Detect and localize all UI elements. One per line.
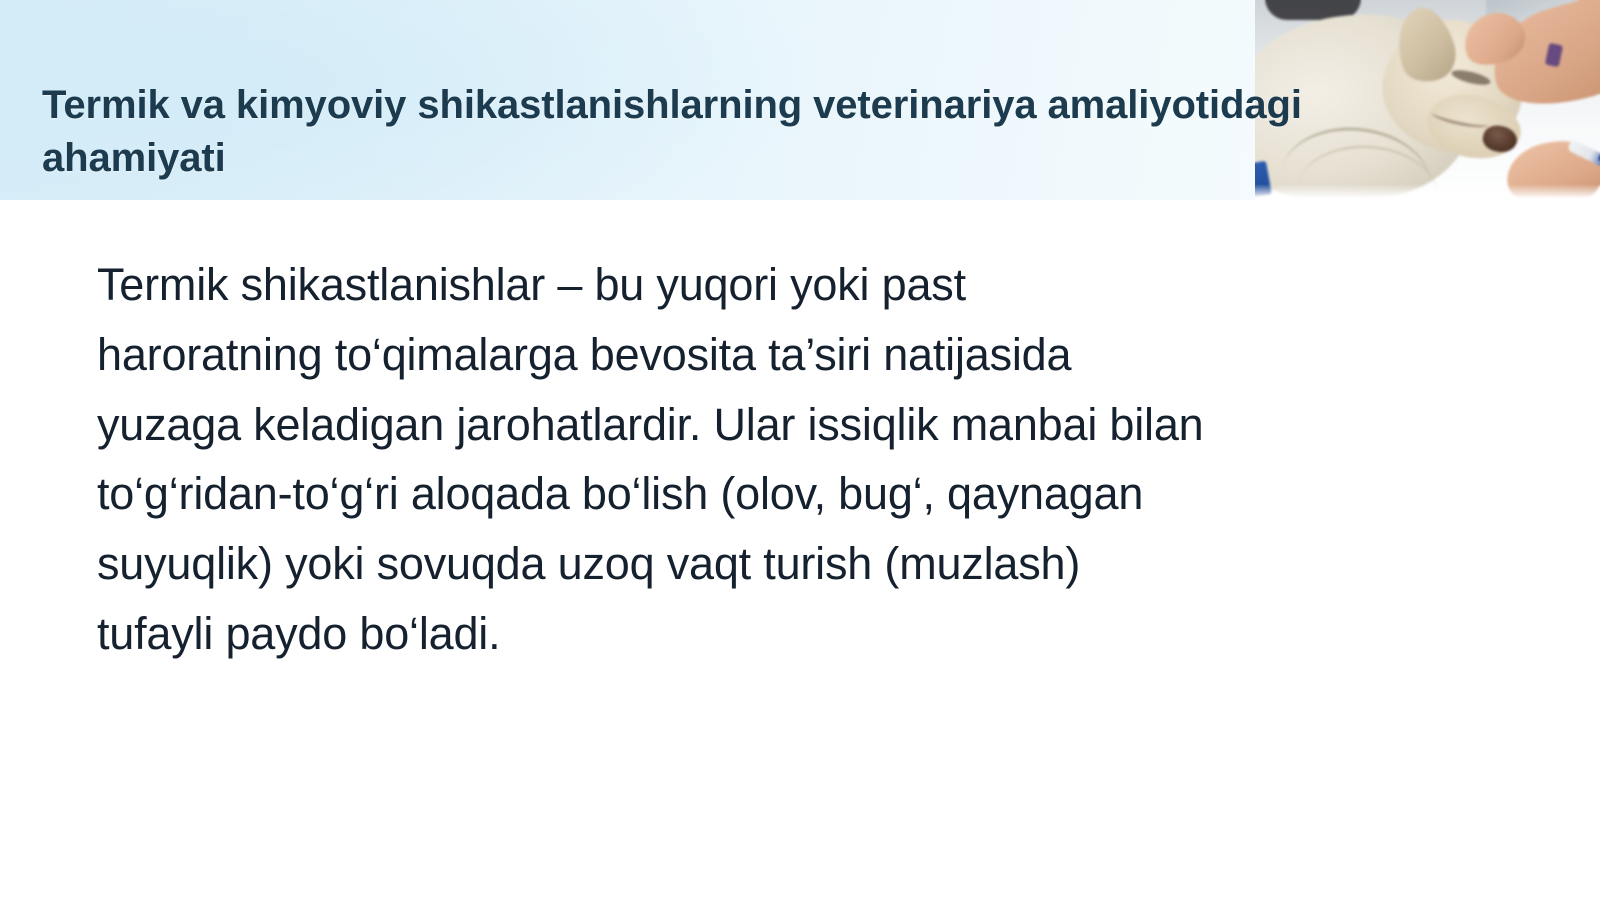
- body-line: haroratning to‘qimalarga bevosita ta’sir…: [97, 320, 1497, 390]
- presentation-slide: Termik va kimyoviy shikastlanishlarning …: [0, 0, 1600, 900]
- body-line: Termik shikastlanishlar – bu yuqori yoki…: [97, 250, 1497, 320]
- body-line: yuzaga keladigan jarohatlardir. Ular iss…: [97, 390, 1497, 460]
- body-line: suyuqlik) yoki sovuqda uzoq vaqt turish …: [97, 529, 1497, 599]
- slide-body-text: Termik shikastlanishlar – bu yuqori yoki…: [97, 250, 1497, 669]
- slide-header-band: Termik va kimyoviy shikastlanishlarning …: [0, 0, 1600, 200]
- body-line: tufayli paydo bo‘ladi.: [97, 599, 1497, 669]
- body-line: to‘g‘ridan-to‘g‘ri aloqada bo‘lish (olov…: [97, 459, 1497, 529]
- slide-title: Termik va kimyoviy shikastlanishlarning …: [42, 79, 1372, 185]
